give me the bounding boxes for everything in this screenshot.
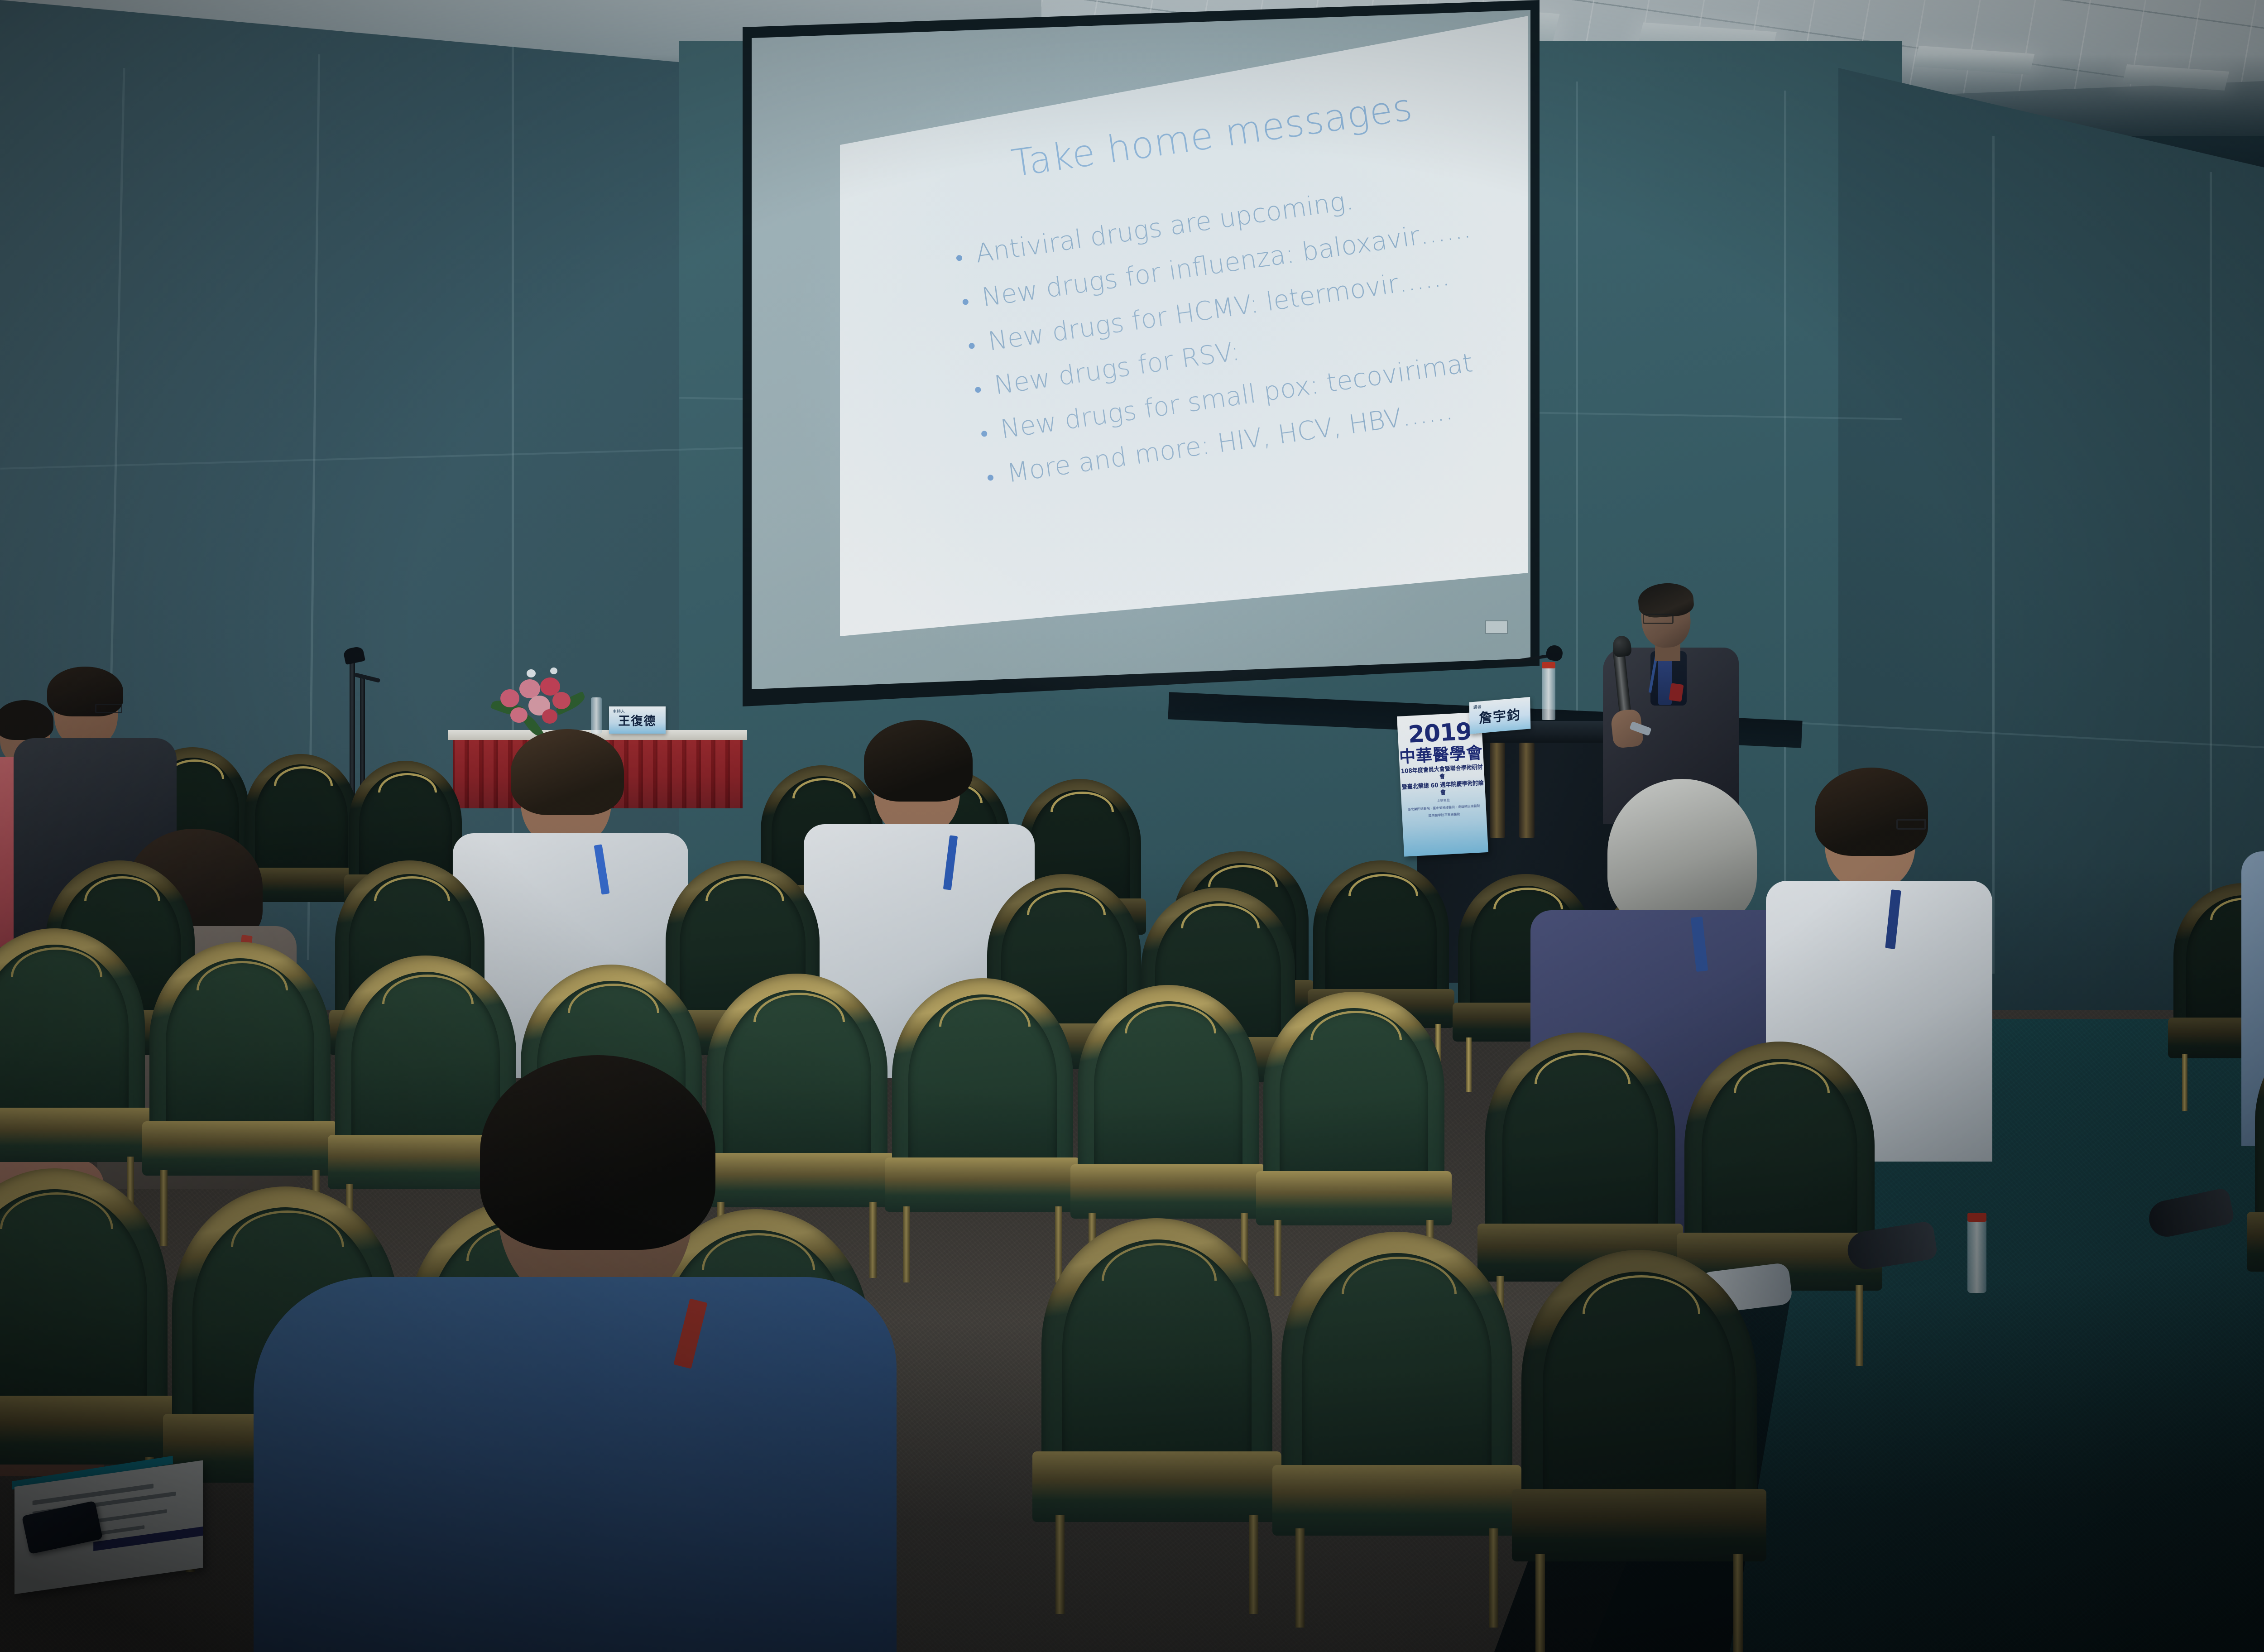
audience-member-foreground bbox=[344, 1060, 887, 1652]
water-bottle[interactable] bbox=[1542, 666, 1555, 720]
chair[interactable] bbox=[149, 942, 331, 1214]
sign-fine-print-1: 主辦單位 bbox=[1437, 798, 1450, 803]
screen-label-tag bbox=[1485, 620, 1508, 634]
speaker-role-label: 講者 bbox=[1473, 703, 1482, 710]
water-bottle[interactable] bbox=[1967, 1218, 1986, 1293]
podium-conference-sign: 2019 中華醫學會 108年度會員大會暨聯合學術研討會 暨臺北榮總 60 週年… bbox=[1397, 712, 1488, 856]
speaker-name-card: 講者 詹宇鈞 bbox=[1469, 697, 1531, 734]
person-hair bbox=[511, 729, 624, 815]
wall-panel-seam bbox=[1992, 136, 1995, 974]
person-hair bbox=[480, 1055, 715, 1250]
podium-pillar bbox=[1519, 743, 1535, 838]
person-body bbox=[254, 1277, 897, 1652]
bottle-cap bbox=[1542, 662, 1555, 668]
sign-fine-print-2: 臺北榮民總醫院 · 臺中榮民總醫院 · 高雄榮民總醫院 bbox=[1407, 804, 1480, 812]
chair[interactable] bbox=[892, 978, 1073, 1250]
person-hair bbox=[864, 720, 973, 802]
speaker-badge bbox=[1669, 683, 1684, 702]
chair[interactable] bbox=[0, 928, 145, 1200]
slide-bullet-list: Antiviral drugs are upcoming. New drugs … bbox=[948, 154, 1613, 506]
chair[interactable] bbox=[1078, 985, 1259, 1257]
sign-organization-text: 中華醫學會 bbox=[1399, 744, 1483, 766]
chair[interactable] bbox=[1281, 1232, 1512, 1585]
speaker-name-text: 詹宇鈞 bbox=[1479, 704, 1521, 727]
eyeglasses-icon bbox=[1643, 614, 1674, 624]
person-hair bbox=[1607, 779, 1757, 928]
chairperson-role-label: 主持人 bbox=[613, 708, 625, 714]
sign-fine-print-3: 國防醫學院三軍總醫院 bbox=[1428, 812, 1460, 818]
podium-pillar bbox=[1490, 743, 1505, 838]
chair[interactable] bbox=[1041, 1218, 1272, 1571]
chair[interactable] bbox=[2255, 1014, 2264, 1313]
person-hair bbox=[1815, 768, 1928, 856]
bottle-cap bbox=[1967, 1213, 1986, 1222]
chair[interactable] bbox=[1263, 992, 1444, 1263]
eyeglasses-icon bbox=[95, 704, 122, 713]
chair[interactable] bbox=[1521, 1250, 1757, 1612]
conference-room-photo: Take home messages Antiviral drugs are u… bbox=[0, 0, 2264, 1652]
sign-year-text: 2019 bbox=[1407, 720, 1472, 747]
eyeglasses-icon bbox=[1896, 819, 1926, 830]
